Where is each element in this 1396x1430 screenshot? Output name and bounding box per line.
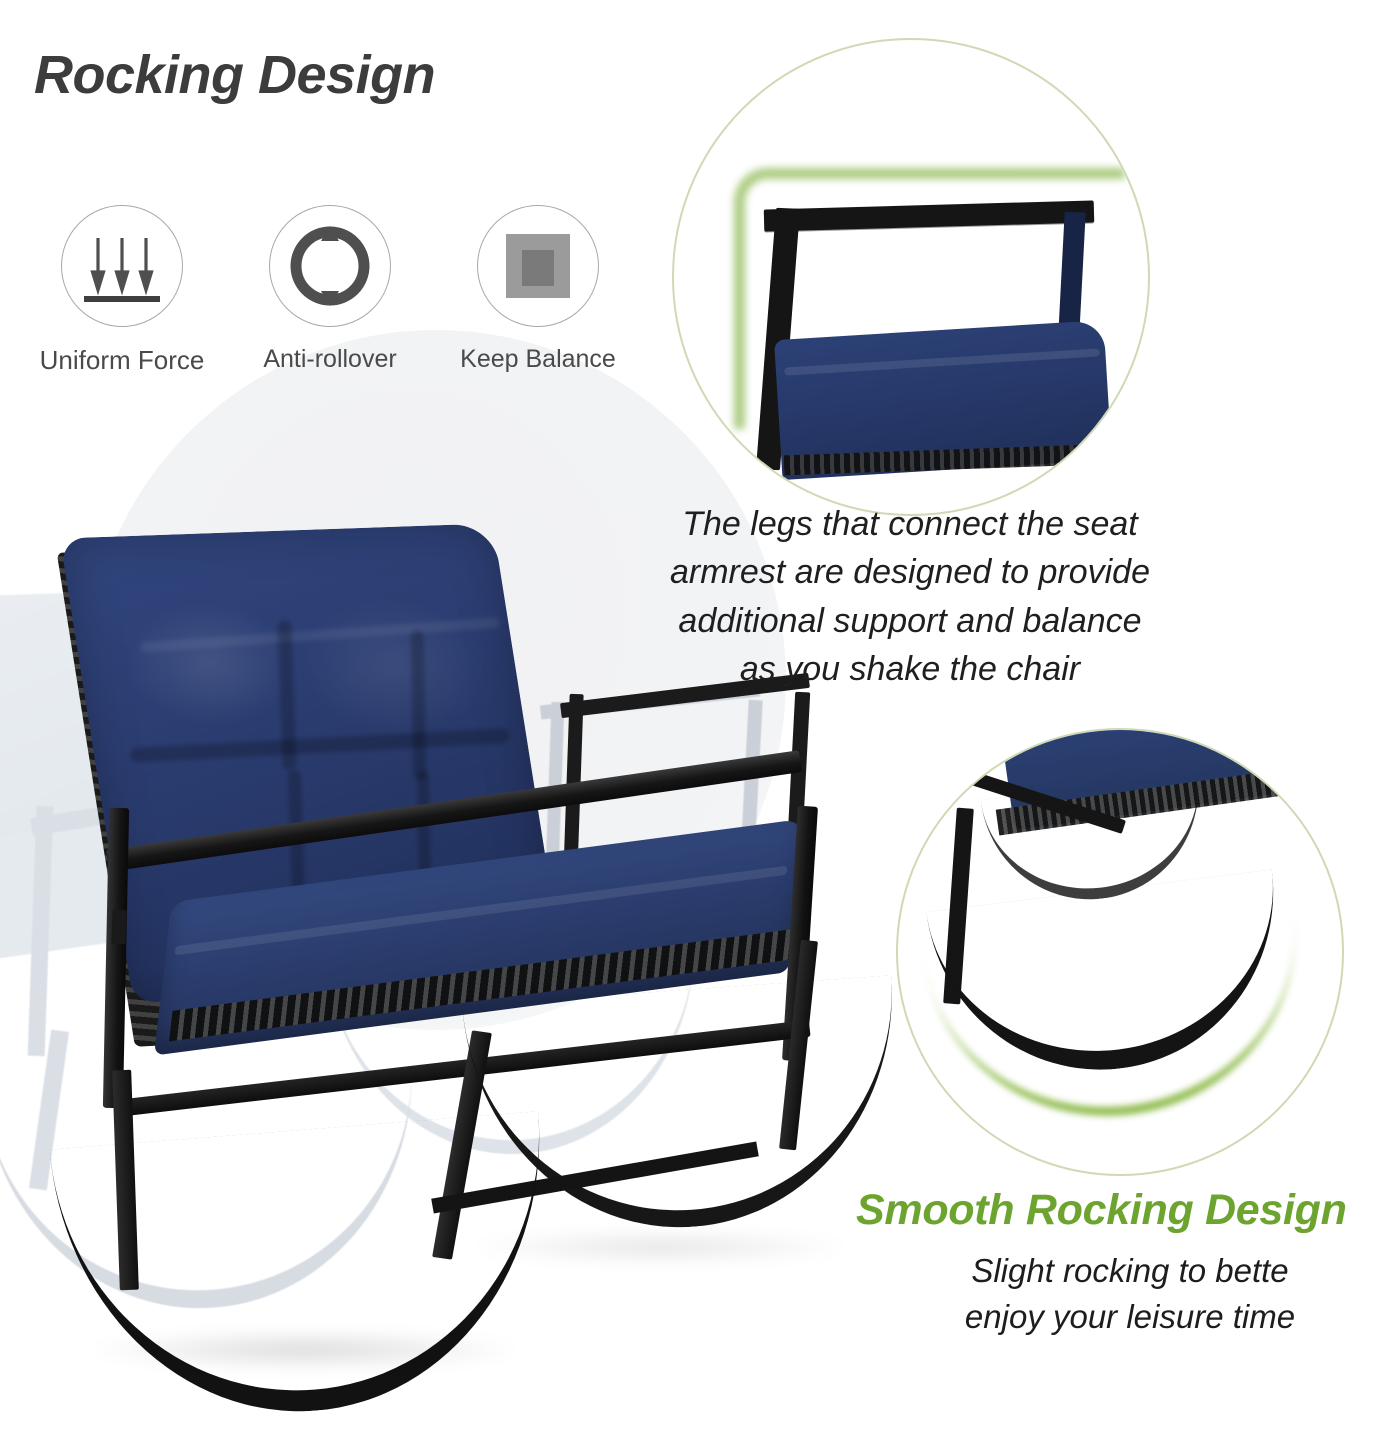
inset-rocker-base-detail [896,728,1344,1176]
paragraph-line-3: additional support and balance [620,597,1200,645]
chair-shadow-near [90,1330,520,1370]
feature-label-keep-balance: Keep Balance [460,345,616,374]
page-title: Rocking Design [34,44,435,106]
down-arrows-on-bar-icon [61,205,183,327]
headline-caption: Slight rocking to bette enjoy your leisu… [880,1248,1380,1340]
feature-label-uniform-force: Uniform Force [40,345,205,376]
headline-smooth-rocking: Smooth Rocking Design [856,1186,1347,1235]
feature-label-anti-rollover: Anti-rollover [263,345,396,374]
rocker-runner-near [50,1111,561,1430]
paragraph-line-1: The legs that connect the seat [620,500,1200,548]
paragraph-line-4: as you shake the chair [620,645,1200,693]
feature-item-uniform-force: Uniform Force [18,205,226,376]
feature-item-keep-balance: Keep Balance [434,205,642,376]
back-cushion-seam-v2 [411,630,427,780]
inset-armrest-leg-detail [672,38,1150,516]
chair-shadow-far [470,1230,850,1264]
feature-item-anti-rollover: Anti-rollover [226,205,434,376]
caption-line-1: Slight rocking to bette [880,1248,1380,1294]
circular-arrows-icon [269,205,391,327]
caption-line-2: enjoy your leisure time [880,1294,1380,1340]
nested-squares-icon [477,205,599,327]
infographic-canvas: Rocking Design Uniform Force [0,0,1396,1396]
feature-list: Uniform Force Anti-rollover [18,205,642,376]
near-armrest-brace [111,910,126,944]
feature-paragraph: The legs that connect the seat armrest a… [620,500,1200,693]
paragraph-line-2: armrest are designed to provide [620,548,1200,596]
